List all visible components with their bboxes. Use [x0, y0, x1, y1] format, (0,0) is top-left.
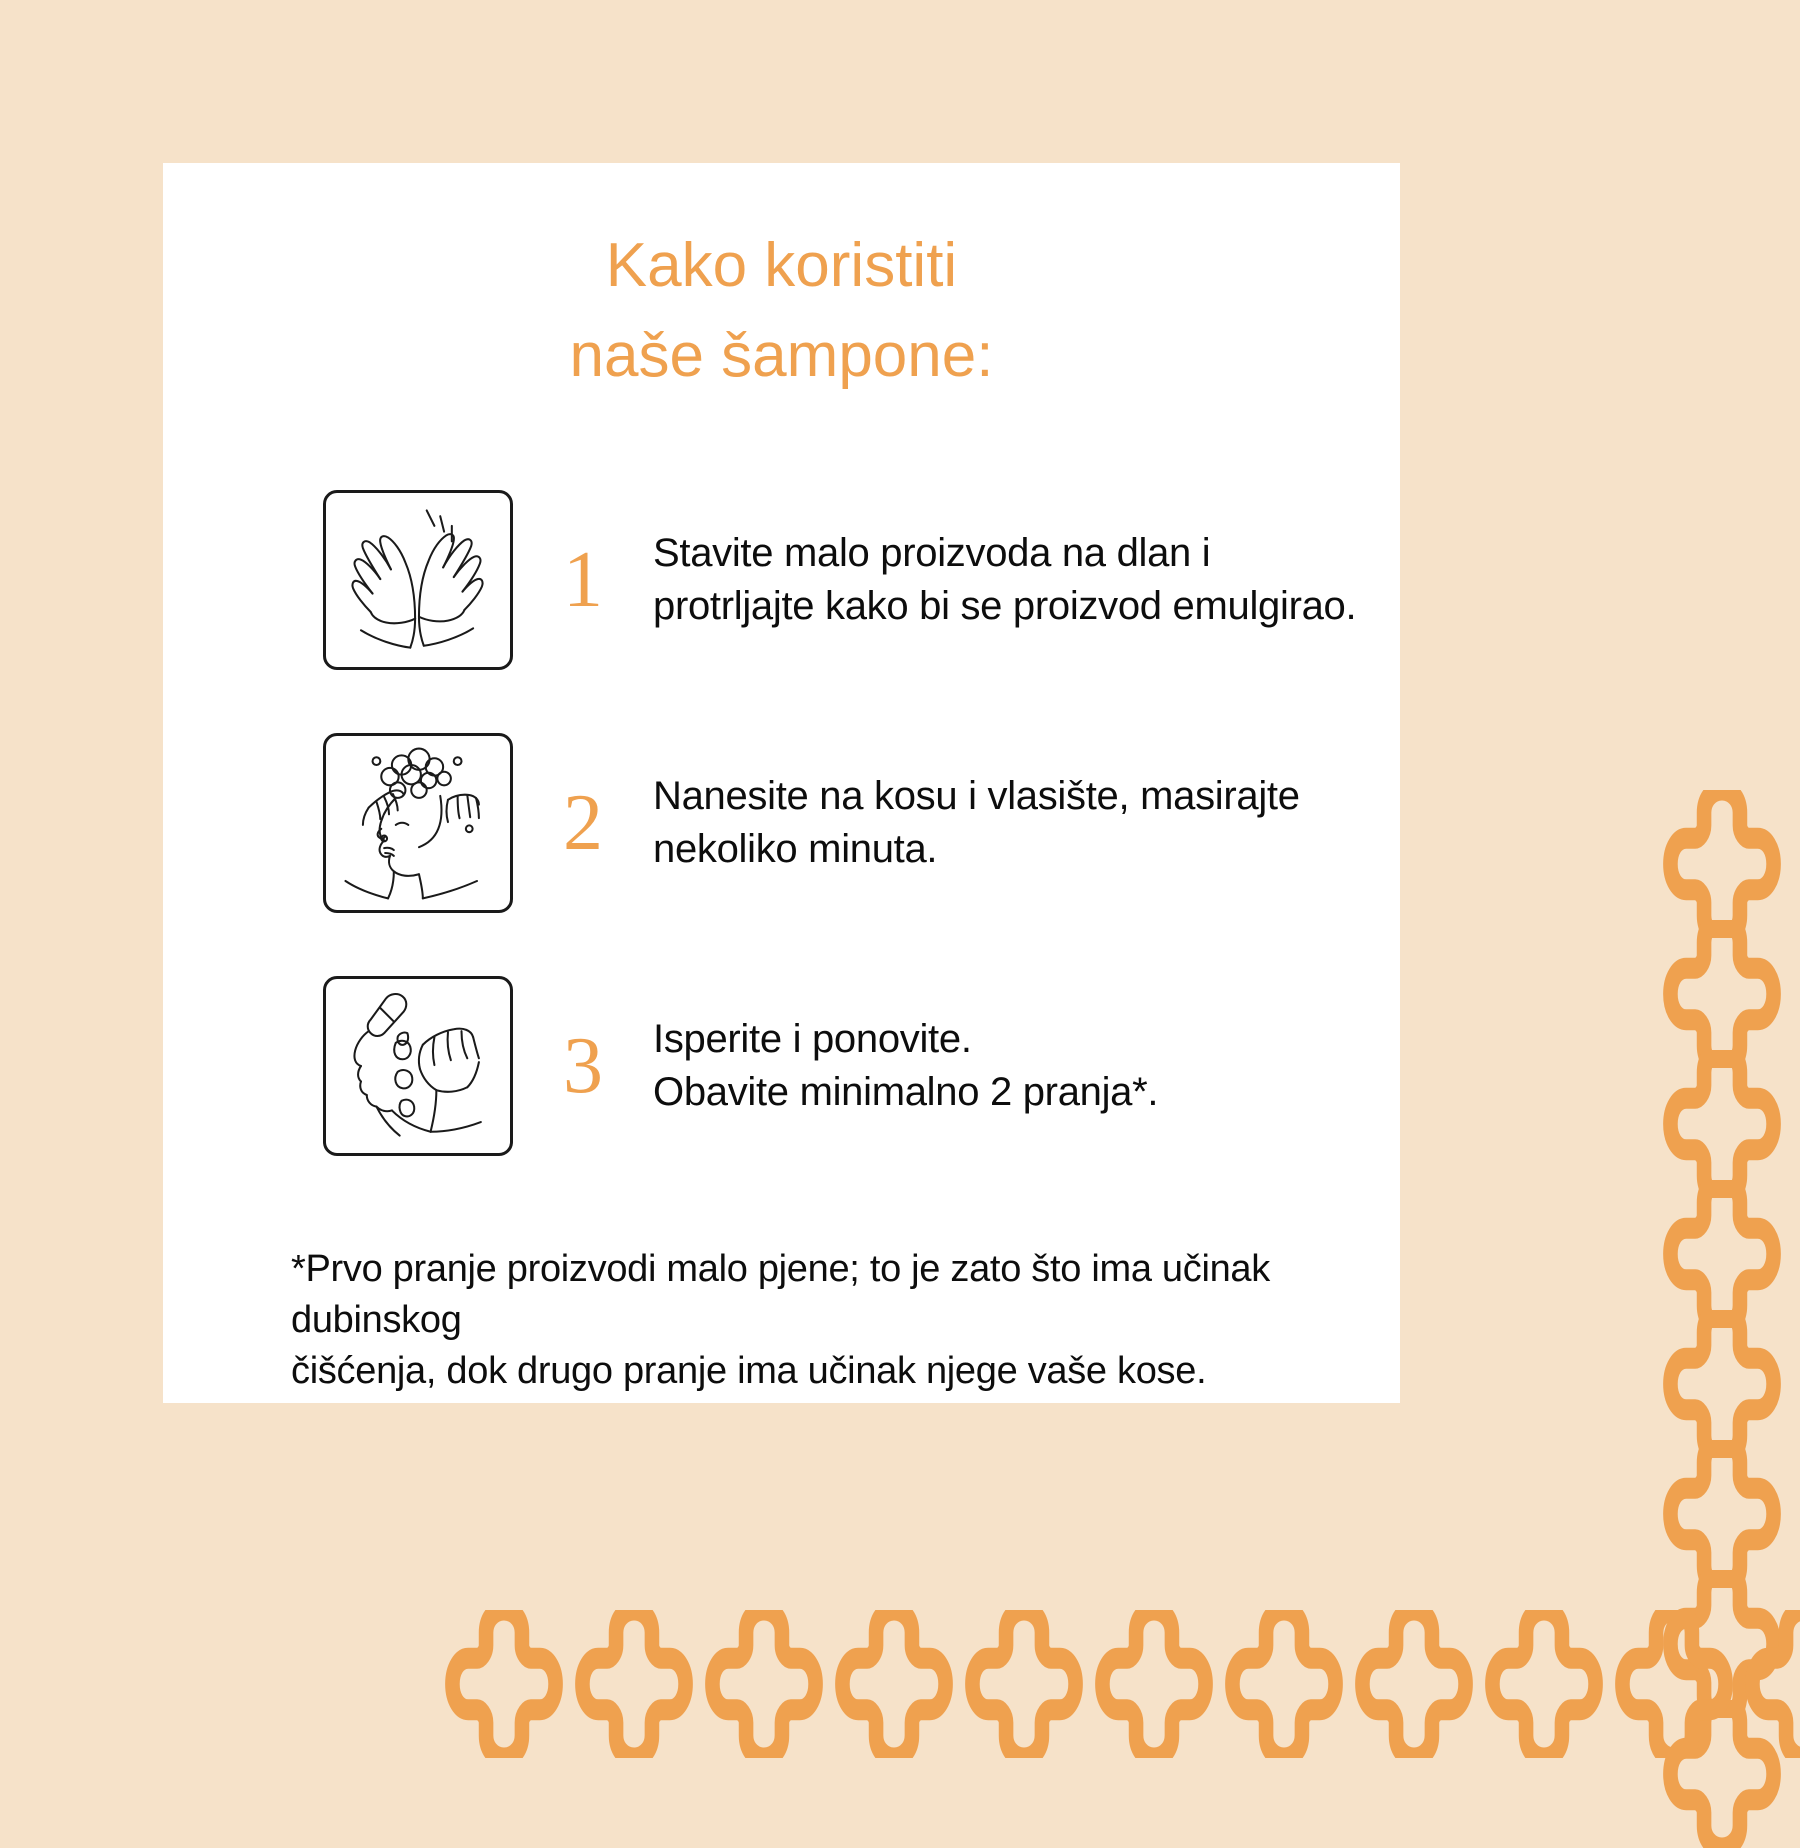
- quatrefoil-outline-icon: [1648, 920, 1796, 1068]
- list-item: 3 Isperite i ponovite. Obavite minimalno…: [323, 945, 1400, 1188]
- footnote-line-1: *Prvo pranje proizvodi malo pjene; to je…: [291, 1244, 1288, 1346]
- footnote-line-2: čišćenja, dok drugo pranje ima učinak nj…: [291, 1346, 1288, 1397]
- washing-hair-lather-icon: [323, 733, 513, 913]
- instruction-card: Kako koristiti naše šampone:: [163, 163, 1400, 1403]
- quatrefoil-outline-icon: [1470, 1610, 1618, 1758]
- quatrefoil-outline-icon: [1080, 1610, 1228, 1758]
- page-title-line-1: Kako koristiti: [163, 221, 1400, 311]
- list-item: 1 Stavite malo proizvoda na dlan i protr…: [323, 459, 1400, 702]
- quatrefoil-outline-icon: [1648, 1180, 1796, 1328]
- quatrefoil-outline-icon: [1648, 1310, 1796, 1458]
- step-number: 2: [513, 783, 653, 863]
- step-description: Stavite malo proizvoda na dlan i protrlj…: [653, 527, 1356, 633]
- step-description-line-1: Stavite malo proizvoda na dlan i: [653, 527, 1356, 580]
- decorative-border-bottom: [430, 1610, 1800, 1758]
- quatrefoil-outline-icon: [560, 1610, 708, 1758]
- step-description: Nanesite na kosu i vlasište, masirajte n…: [653, 770, 1300, 876]
- steps-list: 1 Stavite malo proizvoda na dlan i protr…: [163, 459, 1400, 1188]
- quatrefoil-outline-icon: [950, 1610, 1098, 1758]
- step-number: 1: [513, 540, 653, 620]
- hands-rubbing-product-icon: [323, 490, 513, 670]
- step-description: Isperite i ponovite. Obavite minimalno 2…: [653, 1013, 1158, 1119]
- step-description-line-2: protrljajte kako bi se proizvod emulgira…: [653, 580, 1356, 633]
- quatrefoil-outline-icon: [1600, 1610, 1748, 1758]
- quatrefoil-outline-icon: [690, 1610, 838, 1758]
- step-number: 3: [513, 1026, 653, 1106]
- page-title: Kako koristiti naše šampone:: [163, 163, 1400, 401]
- quatrefoil-outline-icon: [1210, 1610, 1358, 1758]
- quatrefoil-outline-icon: [1730, 1610, 1800, 1758]
- step-description-line-1: Nanesite na kosu i vlasište, masirajte: [653, 770, 1300, 823]
- quatrefoil-outline-icon: [430, 1610, 578, 1758]
- step-description-line-2: nekoliko minuta.: [653, 823, 1300, 876]
- quatrefoil-outline-icon: [1648, 790, 1796, 938]
- quatrefoil-outline-icon: [820, 1610, 968, 1758]
- step-description-line-2: Obavite minimalno 2 pranja*.: [653, 1066, 1158, 1119]
- quatrefoil-outline-icon: [1648, 1050, 1796, 1198]
- step-description-line-1: Isperite i ponovite.: [653, 1013, 1158, 1066]
- rinse-and-repeat-icon: [323, 976, 513, 1156]
- footnote: *Prvo pranje proizvodi malo pjene; to je…: [163, 1244, 1400, 1397]
- quatrefoil-outline-icon: [1340, 1610, 1488, 1758]
- quatrefoil-outline-icon: [1648, 1440, 1796, 1588]
- list-item: 2 Nanesite na kosu i vlasište, masirajte…: [323, 702, 1400, 945]
- page-title-line-2: naše šampone:: [163, 311, 1400, 401]
